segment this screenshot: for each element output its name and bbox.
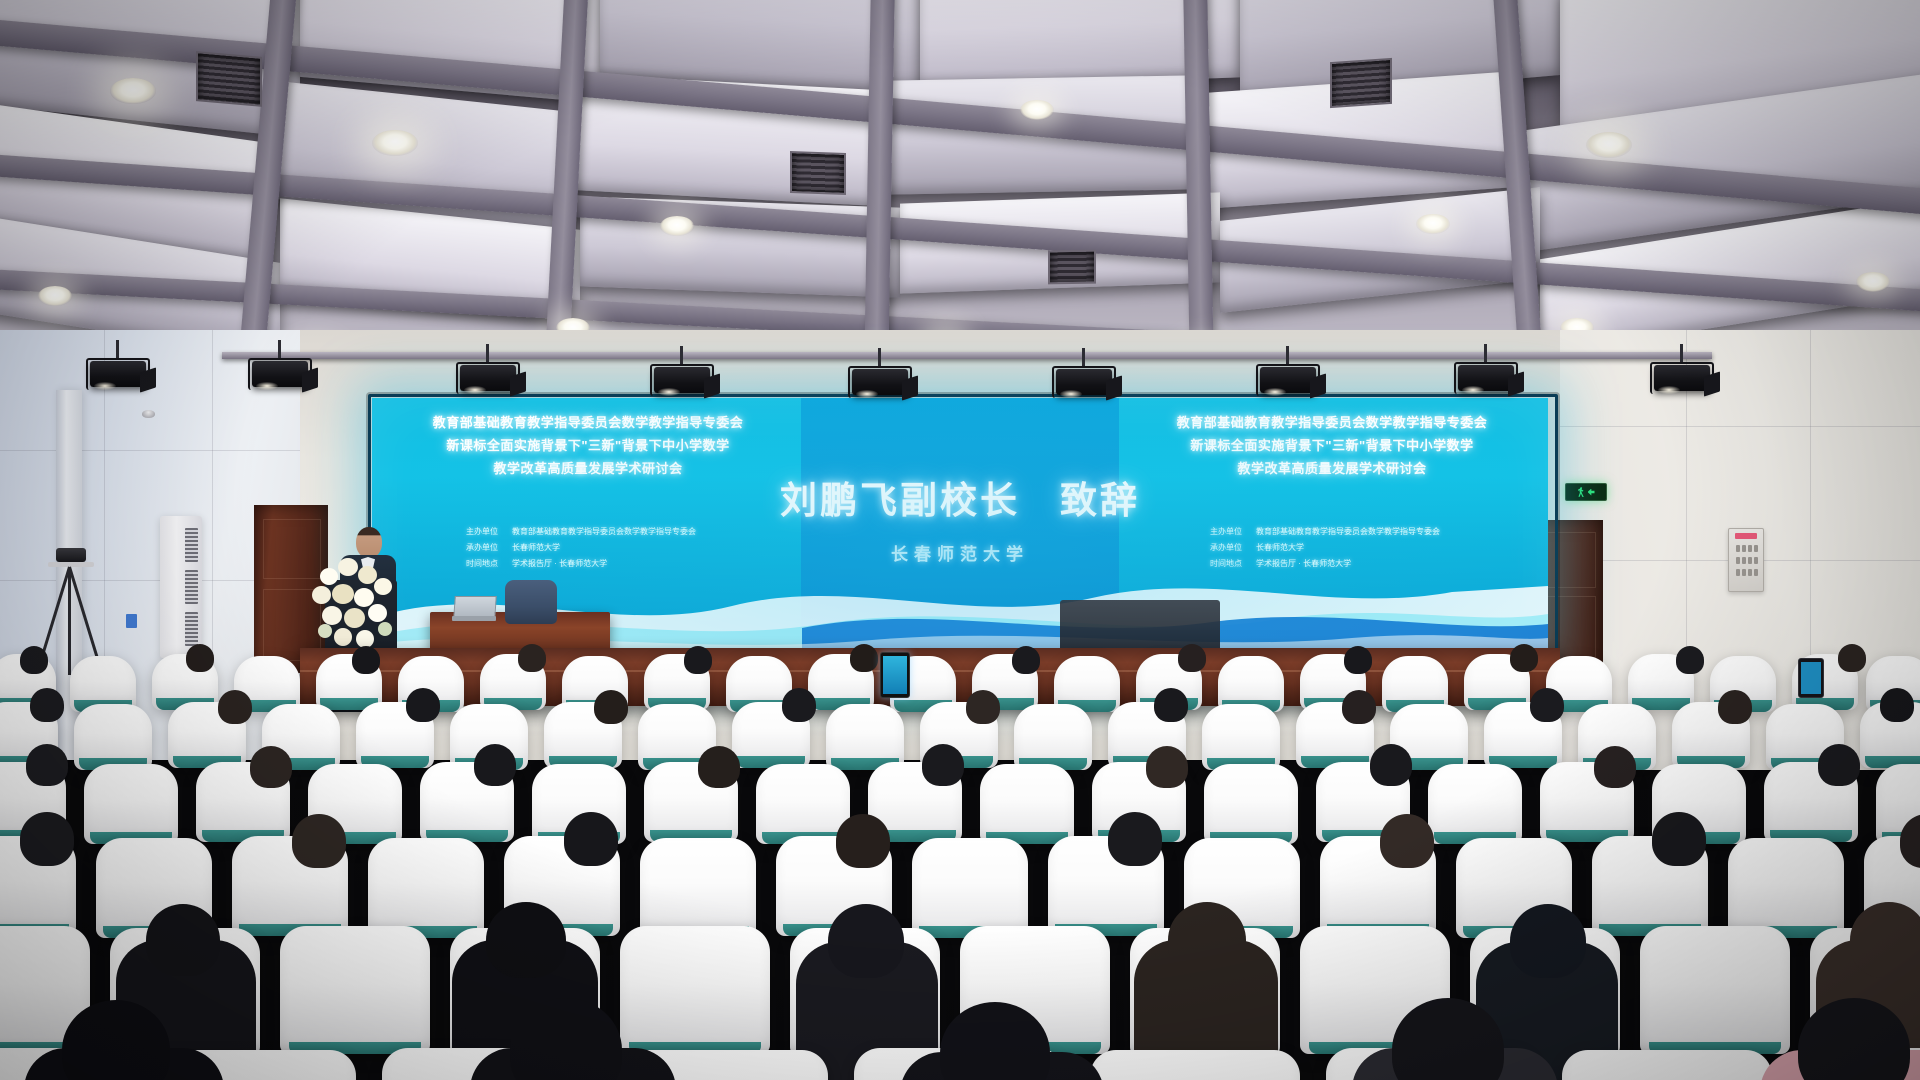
stage-light	[456, 356, 520, 396]
conference-hall-photo: 教育部基础教育教学指导委员会数学教学指导专委会 新课标全面实施背景下"三新"背景…	[0, 0, 1920, 1080]
audience-head	[828, 904, 904, 978]
audience-chair	[620, 926, 770, 1054]
audience-head	[1510, 644, 1538, 672]
audience-head	[684, 646, 712, 674]
audience-head	[292, 814, 346, 868]
stage-light	[1650, 356, 1714, 396]
audience-head	[698, 746, 740, 788]
audience-head	[1146, 746, 1188, 788]
ceiling-air-vent	[1048, 250, 1096, 285]
stage-light	[1454, 356, 1518, 396]
ceiling-air-vent	[1330, 58, 1392, 108]
list-item: 主办单位教育部基础教育教学指导委员会数学教学指导专委会	[1200, 524, 1440, 540]
audience-head	[218, 690, 252, 724]
video-camera-icon	[56, 548, 86, 562]
ceiling-air-vent	[790, 151, 846, 195]
stage-light	[1052, 360, 1116, 400]
audience-chair	[640, 838, 756, 938]
audience-chair	[826, 704, 904, 770]
audience-head	[1510, 904, 1586, 978]
audience-head	[1594, 746, 1636, 788]
arrow-left-icon	[1588, 489, 1595, 496]
audience-head	[20, 812, 74, 866]
stage-chair	[505, 580, 557, 624]
audience-head	[1342, 690, 1376, 724]
audience-chair	[980, 764, 1074, 844]
audience-head	[922, 744, 964, 786]
audience-head	[1380, 814, 1434, 868]
ceiling-downlight	[372, 130, 418, 156]
phone-recording	[880, 652, 910, 698]
audience-head	[20, 646, 48, 674]
audience-chair	[1204, 764, 1298, 844]
air-conditioner-unit	[160, 516, 202, 658]
audience-head	[564, 812, 618, 866]
audience-chair	[1728, 838, 1844, 938]
audience-head	[146, 904, 220, 976]
audience-head	[850, 644, 878, 672]
ceiling-air-vent	[196, 51, 262, 107]
led-left-title-line1: 教育部基础教育教学指导委员会数学教学指导专委会	[386, 412, 790, 435]
audience-head	[782, 688, 816, 722]
ceiling-downlight	[1416, 214, 1450, 234]
list-item: 主办单位教育部基础教育教学指导委员会数学教学指导专委会	[456, 524, 696, 540]
audience-head	[1718, 690, 1752, 724]
audience-chair	[912, 838, 1028, 938]
audience-head	[26, 744, 68, 786]
ceiling-downlight	[110, 78, 156, 104]
audience-head	[1012, 646, 1040, 674]
audience-area	[0, 640, 1920, 1080]
ceiling-downlight	[660, 216, 694, 236]
running-man-icon	[1578, 487, 1586, 497]
dome-security-camera-icon	[142, 410, 155, 418]
stage-light	[650, 358, 714, 398]
audience-chair	[1562, 1050, 1772, 1080]
audience-head	[1818, 744, 1860, 786]
audience-chair	[1014, 704, 1092, 770]
audience-head	[1838, 644, 1866, 672]
audience-head	[1370, 744, 1412, 786]
audience-head	[1178, 644, 1206, 672]
laptop	[452, 596, 496, 622]
audience-head	[186, 644, 214, 672]
audience-head	[1344, 646, 1372, 674]
audience-head	[966, 690, 1000, 724]
audience-chair	[1090, 1050, 1300, 1080]
ceiling-downlight	[1020, 100, 1054, 120]
ceiling-downlight	[1856, 272, 1890, 292]
audience-chair	[1640, 926, 1790, 1054]
audience-head	[474, 744, 516, 786]
stage-light	[848, 360, 912, 400]
stage-light	[86, 352, 150, 392]
led-right-title-line2: 新课标全面实施背景下"三新"背景下中小学数学	[1130, 435, 1534, 458]
audience-head	[836, 814, 890, 868]
led-right-title-line1: 教育部基础教育教学指导委员会数学教学指导专委会	[1130, 412, 1534, 435]
audience-chair	[368, 838, 484, 938]
audience-head	[250, 746, 292, 788]
audience-chair	[280, 926, 430, 1054]
stage-light	[248, 352, 312, 392]
audience-chair	[756, 764, 850, 844]
led-left-title-line2: 新课标全面实施背景下"三新"背景下中小学数学	[386, 435, 790, 458]
ceiling-downlight	[38, 286, 72, 306]
led-center-title: 刘鹏飞副校长 致辞	[372, 470, 1548, 524]
audience-head	[352, 646, 380, 674]
electrical-panel	[1728, 528, 1764, 592]
wall-sign	[126, 614, 137, 628]
audience-head	[594, 690, 628, 724]
audience-head	[486, 902, 566, 978]
audience-chair	[84, 764, 178, 844]
audience-head	[1652, 812, 1706, 866]
audience-chair	[1202, 704, 1280, 770]
stage-light	[1256, 358, 1320, 398]
phone-recording	[1798, 658, 1824, 698]
led-center-subtitle: 长春师范大学	[372, 540, 1548, 565]
audience-head	[1880, 688, 1914, 722]
exit-sign	[1565, 483, 1607, 501]
audience-head	[1168, 902, 1246, 978]
audience-head	[1850, 902, 1920, 978]
audience-head	[406, 688, 440, 722]
audience-head	[30, 688, 64, 722]
audience-head	[1530, 688, 1564, 722]
audience-head	[1154, 688, 1188, 722]
audience-chair	[74, 704, 152, 770]
audience-head	[518, 644, 546, 672]
ceiling-downlight	[1586, 132, 1632, 158]
audience-head	[1108, 812, 1162, 866]
audience-head	[1676, 646, 1704, 674]
audience-chair	[1428, 764, 1522, 844]
